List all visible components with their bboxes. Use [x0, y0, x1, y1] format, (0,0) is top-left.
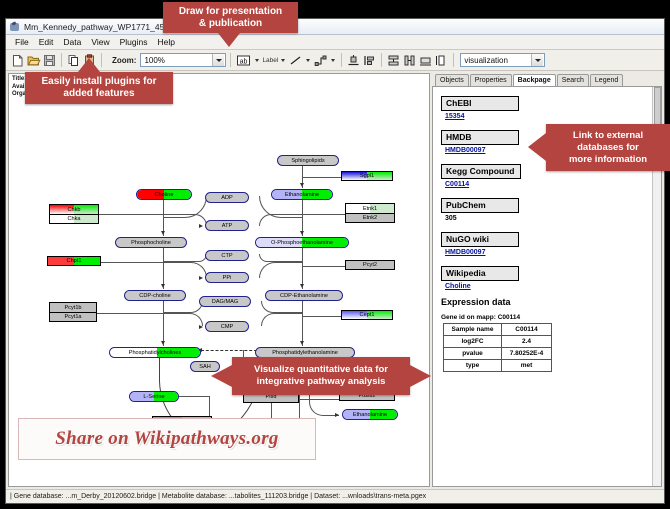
- reaction-arc: [163, 301, 203, 313]
- cell-key: pvalue: [444, 348, 502, 360]
- node-cept1[interactable]: Cept1: [341, 310, 393, 320]
- node-o-phosphoethanolamine[interactable]: O-Phosphoethanolamine: [255, 237, 349, 248]
- reaction-arc: [163, 313, 203, 326]
- node-cdp-ethanolamine[interactable]: CDP-Ethanolamine: [265, 290, 343, 301]
- cell-value: met: [502, 360, 552, 372]
- callout-share: Share on Wikipathways.org: [18, 418, 316, 460]
- node-label: Phosphatidylcholines: [129, 350, 182, 356]
- arrow-icon: [199, 276, 203, 280]
- toolbar-separator-6: [453, 53, 454, 67]
- connector-line: [302, 316, 341, 317]
- connector-line: [179, 396, 209, 397]
- application-icon: [10, 22, 20, 32]
- tab-legend[interactable]: Legend: [590, 74, 623, 86]
- status-bar: | Gene database: ...m_Derby_20120602.bri…: [6, 489, 664, 503]
- callout-links-line3: more information: [569, 154, 647, 166]
- callout-links-line1: Link to external: [573, 130, 643, 142]
- new-file-icon[interactable]: [10, 53, 25, 68]
- node-label: Choline: [155, 192, 174, 198]
- node-label: ADP: [221, 195, 233, 201]
- line-icon[interactable]: [288, 53, 303, 68]
- callout-plugins: Easily install plugins for added feature…: [25, 72, 173, 104]
- node-label: CMP: [221, 324, 233, 330]
- reaction-arc: [261, 313, 303, 326]
- node-ctp[interactable]: CTP: [205, 250, 249, 261]
- visualization-value: visualization: [464, 56, 508, 65]
- menu-data[interactable]: Data: [58, 36, 86, 49]
- node-label: Pcyt1b: [64, 305, 81, 311]
- menu-plugins[interactable]: Plugins: [115, 36, 153, 49]
- callout-links-line2: databases for: [577, 142, 639, 154]
- node-ethanolamine-top[interactable]: Ethanolamine: [271, 189, 333, 200]
- callout-visualize: Visualize quantitative data for integrat…: [232, 357, 410, 395]
- node-sgpl1[interactable]: Sgpl1: [341, 171, 393, 181]
- cell-value: C00114: [502, 324, 552, 336]
- node-label: L-Serine: [143, 394, 164, 400]
- callout-draw-line2: & publication: [199, 18, 262, 30]
- zoom-value: 100%: [144, 56, 164, 65]
- cell-value: 2.4: [502, 336, 552, 348]
- expression-table: Sample name C00114 log2FC 2.4 pvalue 7.8…: [443, 323, 552, 372]
- db-link-nugo[interactable]: HMDB00097: [445, 249, 661, 256]
- arrow-icon: [300, 284, 304, 288]
- tab-objects[interactable]: Objects: [435, 74, 469, 86]
- node-chka[interactable]: Chka: [49, 214, 99, 224]
- arrow-icon: [300, 231, 304, 235]
- gene-id-line: Gene id on mapp: C00114: [441, 314, 661, 321]
- node-label: DAG/MAG: [212, 299, 238, 305]
- node-phosphocholine[interactable]: Phosphocholine: [115, 237, 187, 248]
- node-label: Chkb: [67, 207, 80, 213]
- node-ppi[interactable]: PPi: [205, 272, 249, 283]
- datanode-icon[interactable]: ab: [235, 53, 252, 68]
- db-heading-hmdb: HMDB: [441, 130, 519, 145]
- db-value-pubchem: 305: [445, 215, 661, 222]
- callout-share-text: Share on Wikipathways.org: [55, 428, 278, 450]
- callout-links: Link to external databases for more info…: [546, 124, 670, 171]
- node-choline-top[interactable]: Choline: [136, 189, 192, 200]
- node-pcyt2[interactable]: Pcyt2: [345, 260, 395, 270]
- node-label: Sgpl1: [360, 173, 374, 179]
- node-label: Chpt1: [67, 258, 82, 264]
- toolbar: Zoom: 100% ab Label: [6, 50, 664, 71]
- node-label: Etnk1: [363, 206, 377, 212]
- arrow-icon: [335, 413, 339, 417]
- connector-icon[interactable]: [313, 53, 328, 68]
- scrollbar-thumb[interactable]: [654, 87, 661, 127]
- db-heading-nugo: NuGO wiki: [441, 232, 519, 247]
- menu-bar: File Edit Data View Plugins Help: [6, 35, 664, 50]
- label-chevron-down-icon[interactable]: [281, 59, 285, 62]
- arrow-icon: [300, 341, 304, 345]
- node-label: ATP: [222, 223, 232, 229]
- save-file-icon[interactable]: [42, 53, 57, 68]
- reaction-arc: [259, 254, 303, 262]
- connector-line: [302, 214, 345, 215]
- node-pcyt1a[interactable]: Pcyt1a: [49, 312, 97, 322]
- title-bar: Mm_Kennedy_pathway_WP1771_45176.gpml: [6, 19, 664, 35]
- line-chevron-down-icon[interactable]: [306, 59, 310, 62]
- db-link-kegg[interactable]: C00114: [445, 181, 661, 188]
- callout-draw: Draw for presentation & publication: [163, 2, 298, 33]
- toolbar-separator: [61, 53, 62, 67]
- arrow-icon: [161, 284, 165, 288]
- callout-visualize-arrow-left-icon: [211, 365, 232, 387]
- common-width-icon[interactable]: [418, 53, 433, 68]
- node-label: Pcyt1a: [64, 314, 81, 320]
- tab-search[interactable]: Search: [557, 74, 589, 86]
- toolbar-separator-5: [381, 53, 382, 67]
- align-top-icon[interactable]: [346, 53, 361, 68]
- toolbar-separator-3: [230, 53, 231, 67]
- open-file-icon[interactable]: [26, 53, 41, 68]
- node-label: CDP-choline: [139, 293, 170, 299]
- zoom-label: Zoom:: [112, 56, 136, 65]
- callout-plugins-line1: Easily install plugins for: [41, 76, 156, 88]
- node-chkb[interactable]: Chkb: [49, 204, 99, 214]
- callout-plugins-arrow-icon: [78, 58, 100, 72]
- node-label: Pcyt2: [363, 262, 377, 268]
- arrow-icon: [161, 231, 165, 235]
- node-ethanolamine-bottom[interactable]: Ethanolamine: [342, 409, 398, 420]
- stack-horizontal-icon[interactable]: [402, 53, 417, 68]
- cell-value: 7.80252E-4: [502, 348, 552, 360]
- toolbar-separator-4: [341, 53, 342, 67]
- db-link-wikipedia[interactable]: Choline: [445, 283, 661, 290]
- node-chpt1[interactable]: Chpt1: [47, 256, 101, 266]
- node-label: CDP-Ethanolamine: [280, 293, 328, 299]
- backpage-entry-nugo: NuGO wiki HMDB00097: [441, 229, 661, 256]
- node-etnk2[interactable]: Etnk2: [345, 213, 395, 223]
- node-label: Etnk2: [363, 215, 377, 221]
- backpage-entry-wikipedia: Wikipedia Choline: [441, 263, 661, 290]
- node-phosphatidylcholines[interactable]: Phosphatidylcholines: [109, 347, 201, 358]
- db-heading-pubchem: PubChem: [441, 198, 519, 213]
- cell-key: Sample name: [444, 324, 502, 336]
- menu-help[interactable]: Help: [153, 36, 180, 49]
- node-label: Cept1: [360, 312, 375, 318]
- node-label: Chka: [67, 216, 80, 222]
- connector-line: [302, 266, 345, 267]
- cell-key: type: [444, 360, 502, 372]
- node-pcyt1b[interactable]: Pcyt1b: [49, 302, 97, 312]
- node-label: PPi: [223, 275, 232, 281]
- node-label: O-Phosphoethanolamine: [271, 240, 333, 246]
- db-heading-chebi: ChEBI: [441, 96, 519, 111]
- methylation-connector: [201, 350, 257, 351]
- status-text: | Gene database: ...m_Derby_20120602.bri…: [10, 493, 426, 500]
- connector-line: [101, 262, 163, 263]
- node-cmp[interactable]: CMP: [205, 321, 249, 332]
- menu-file[interactable]: File: [10, 36, 34, 49]
- node-label: CTP: [221, 253, 232, 259]
- visualization-chevron-down-icon[interactable]: [531, 54, 543, 66]
- align-left-icon[interactable]: [362, 53, 377, 68]
- connector-chevron-down-icon[interactable]: [331, 59, 335, 62]
- reaction-arc: [259, 262, 303, 278]
- expression-data-title: Expression data: [441, 297, 661, 307]
- menu-edit[interactable]: Edit: [34, 36, 59, 49]
- callout-visualize-line1: Visualize quantitative data for: [254, 364, 388, 376]
- callout-draw-line1: Draw for presentation: [179, 6, 282, 18]
- side-panel-tabs: Objects Properties Backpage Search Legen…: [432, 73, 662, 86]
- zoom-chevron-down-icon[interactable]: [212, 54, 224, 66]
- reaction-arc: [259, 214, 303, 226]
- connector-line: [302, 177, 341, 178]
- cell-key: log2FC: [444, 336, 502, 348]
- node-label: Phosphatidylethanolamine: [272, 350, 338, 356]
- stack-vertical-icon[interactable]: [386, 53, 401, 68]
- arrow-icon: [161, 341, 165, 345]
- node-dag-mag[interactable]: DAG/MAG: [199, 296, 251, 307]
- callout-draw-arrow-icon: [218, 33, 240, 47]
- reaction-arc: [163, 254, 207, 262]
- db-heading-kegg: Kegg Compound: [441, 164, 521, 179]
- db-link-chebi[interactable]: 15354: [445, 113, 661, 120]
- node-l-serine-left[interactable]: L-Serine: [129, 391, 179, 402]
- label-tool-label[interactable]: Label: [262, 57, 278, 64]
- db-heading-wikipedia: Wikipedia: [441, 266, 519, 281]
- reaction-arc: [261, 301, 303, 313]
- svg-text:ab: ab: [240, 58, 248, 65]
- callout-plugins-line2: added features: [63, 88, 134, 100]
- table-row: Sample name C00114: [444, 324, 552, 336]
- node-sphingolipids[interactable]: Sphingolipids: [277, 155, 339, 166]
- backpage-entry-chebi: ChEBI 15354: [441, 93, 661, 120]
- tab-backpage[interactable]: Backpage: [513, 74, 556, 86]
- node-etnk1[interactable]: Etnk1: [345, 203, 395, 213]
- visualization-combobox[interactable]: visualization: [460, 53, 545, 67]
- node-label: Ethanolamine: [285, 192, 319, 198]
- toolbar-separator-2: [101, 53, 102, 67]
- backpage-entry-pubchem: PubChem 305: [441, 195, 661, 222]
- datanode-chevron-down-icon[interactable]: [255, 59, 259, 62]
- table-row: log2FC 2.4: [444, 336, 552, 348]
- node-label: Phosphocholine: [131, 240, 171, 246]
- zoom-combobox[interactable]: 100%: [140, 53, 226, 67]
- node-label: SAH: [199, 364, 211, 370]
- arrow-icon: [199, 325, 203, 329]
- arrow-icon: [199, 224, 203, 228]
- arrow-icon: [300, 183, 304, 187]
- table-row: type met: [444, 360, 552, 372]
- connector-line: [97, 313, 163, 314]
- common-height-icon[interactable]: [434, 53, 449, 68]
- node-label: Ethanolamine: [353, 412, 387, 418]
- connector-line: [99, 214, 163, 215]
- table-row: pvalue 7.80252E-4: [444, 348, 552, 360]
- node-atp[interactable]: ATP: [205, 220, 249, 231]
- tab-properties[interactable]: Properties: [470, 74, 512, 86]
- callout-visualize-arrow-right-icon: [410, 365, 431, 387]
- node-cdp-choline[interactable]: CDP-choline: [124, 290, 186, 301]
- callout-links-arrow-icon: [528, 133, 546, 161]
- callout-visualize-line2: integrative pathway analysis: [257, 376, 386, 388]
- node-label: Sphingolipids: [291, 158, 324, 164]
- menu-view[interactable]: View: [86, 36, 114, 49]
- node-adp[interactable]: ADP: [205, 192, 249, 203]
